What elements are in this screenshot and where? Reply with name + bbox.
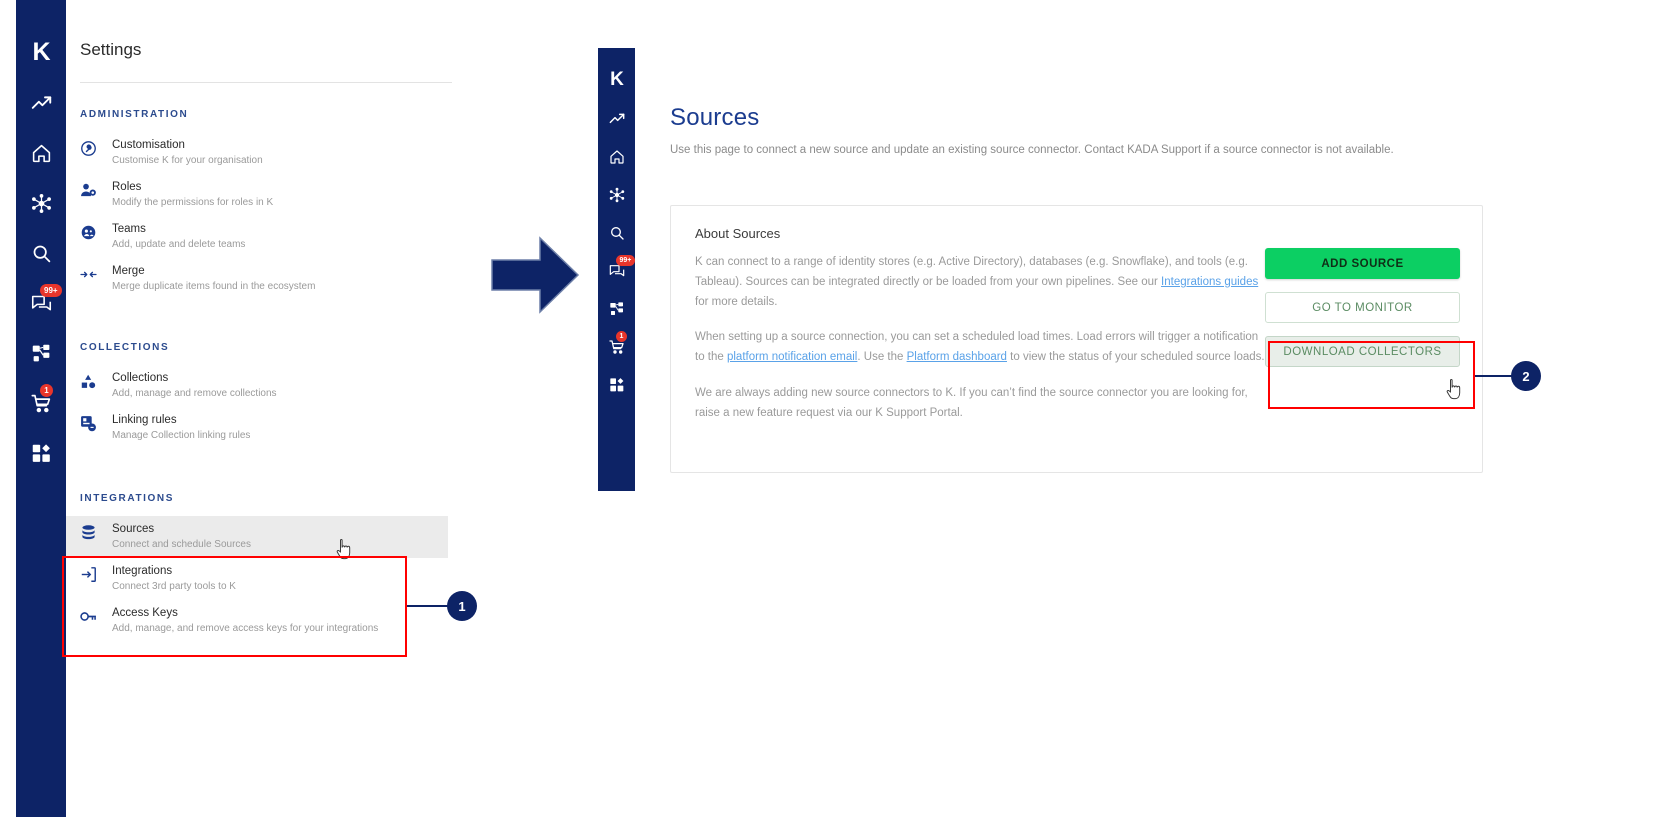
add-source-button[interactable]: ADD SOURCE [1265, 248, 1460, 279]
home-icon[interactable] [24, 134, 58, 172]
sidebar-item-label: Integrations [112, 564, 236, 580]
platform-dashboard-link[interactable]: Platform dashboard [907, 351, 1007, 363]
sidebar-item-desc: Customise K for your organisation [112, 154, 263, 169]
transition-arrow-icon [490, 236, 580, 319]
network-hub-icon[interactable] [604, 180, 630, 209]
cart-icon[interactable]: 1 [604, 332, 630, 361]
integrations-icon [80, 564, 112, 583]
network-hub-icon[interactable] [24, 184, 58, 222]
trending-up-icon[interactable] [24, 84, 58, 122]
sidebar-item-linking-rules[interactable]: Linking rules Manage Collection linking … [66, 407, 466, 449]
sidebar-item-label: Collections [112, 371, 277, 387]
about-sources-heading: About Sources [695, 226, 1265, 241]
nav-icon-list: 99+ 1 [24, 84, 58, 484]
sources-page: Sources Use this page to connect a new s… [650, 0, 1659, 817]
search-icon[interactable] [604, 218, 630, 247]
sidebar-item-integrations[interactable]: Integrations Connect 3rd party tools to … [66, 558, 466, 600]
search-icon[interactable] [24, 234, 58, 272]
about-paragraph-2: When setting up a source connection, you… [695, 328, 1265, 368]
nav-icon-list-secondary: 99+ 1 [604, 104, 630, 408]
paragraph-2-text-b: . Use the [857, 351, 906, 363]
annotation-line-2 [1475, 375, 1513, 377]
integrations-guides-link[interactable]: Integrations guides [1161, 276, 1258, 288]
sidebar-item-label: Access Keys [112, 606, 378, 622]
sidebar-item-customisation[interactable]: Customisation Customise K for your organ… [66, 132, 466, 174]
sidebar-item-desc: Connect 3rd party tools to K [112, 580, 236, 595]
sidebar-item-sources[interactable]: Sources Connect and schedule Sources [66, 516, 448, 558]
teams-icon [80, 222, 112, 241]
sidebar-item-merge[interactable]: Merge Merge duplicate items found in the… [66, 258, 466, 300]
sidebar-item-label: Merge [112, 264, 315, 280]
sidebar-item-desc: Modify the permissions for roles in K [112, 196, 273, 211]
platform-notification-email-link[interactable]: platform notification email [727, 351, 857, 363]
secondary-nav-rail: K 99+ 1 [598, 48, 635, 491]
download-collectors-button[interactable]: DOWNLOAD COLLECTORS [1265, 336, 1460, 367]
chat-icon[interactable]: 99+ [24, 284, 58, 322]
sitemap-icon[interactable] [604, 294, 630, 323]
card-actions: ADD SOURCE GO TO MONITOR DOWNLOAD COLLEC… [1265, 226, 1460, 452]
linking-rules-icon [80, 413, 112, 432]
mouse-cursor-download-collectors [1444, 378, 1464, 402]
cart-badge: 1 [40, 384, 53, 397]
sources-title: Sources [650, 0, 1659, 132]
trending-up-icon[interactable] [604, 104, 630, 133]
paragraph-2-text-c: to view the status of your scheduled sou… [1007, 351, 1265, 363]
roles-icon [80, 180, 112, 199]
sidebar-item-label: Customisation [112, 138, 263, 154]
sidebar-item-label: Teams [112, 222, 245, 238]
sidebar-item-desc: Add, manage and remove collections [112, 387, 277, 402]
home-icon[interactable] [604, 142, 630, 171]
sidebar-item-desc: Add, update and delete teams [112, 238, 245, 253]
about-sources-text: About Sources K can connect to a range o… [695, 226, 1265, 452]
cart-icon[interactable]: 1 [24, 384, 58, 422]
sidebar-item-roles[interactable]: Roles Modify the permissions for roles i… [66, 174, 466, 216]
chat-icon[interactable]: 99+ [604, 256, 630, 285]
sidebar-item-desc: Manage Collection linking rules [112, 429, 250, 444]
annotation-line-1 [407, 605, 451, 607]
wrench-icon [80, 138, 112, 157]
about-paragraph-1: K can connect to a range of identity sto… [695, 253, 1265, 312]
settings-panel: Settings ADMINISTRATION Customisation Cu… [66, 0, 466, 817]
app-logo-secondary[interactable]: K [610, 56, 623, 104]
merge-icon [80, 264, 112, 283]
annotation-badge-1: 1 [447, 591, 477, 621]
dashboard-icon[interactable] [24, 434, 58, 472]
sidebar-item-label: Sources [112, 522, 251, 538]
annotation-badge-2: 2 [1511, 361, 1541, 391]
section-heading-administration: ADMINISTRATION [66, 109, 466, 120]
sidebar-item-label: Roles [112, 180, 273, 196]
about-sources-card: About Sources K can connect to a range o… [670, 205, 1483, 473]
about-paragraph-3: We are always adding new source connecto… [695, 384, 1265, 424]
app-logo[interactable]: K [32, 20, 49, 84]
sidebar-item-desc: Connect and schedule Sources [112, 538, 251, 553]
sidebar-item-desc: Add, manage, and remove access keys for … [112, 622, 378, 637]
sidebar-item-teams[interactable]: Teams Add, update and delete teams [66, 216, 466, 258]
page-title: Settings [66, 0, 466, 60]
cart-badge: 1 [616, 331, 628, 342]
primary-nav-rail: K 99+ 1 [16, 0, 66, 817]
sidebar-item-access-keys[interactable]: Access Keys Add, manage, and remove acce… [66, 600, 466, 642]
key-icon [80, 606, 112, 625]
sources-subtitle: Use this page to connect a new source an… [650, 132, 1440, 160]
sidebar-item-label: Linking rules [112, 413, 250, 429]
dashboard-icon[interactable] [604, 370, 630, 399]
chat-badge: 99+ [616, 255, 636, 266]
shapes-icon [80, 371, 112, 390]
paragraph-1-text-b: for more details. [695, 296, 777, 308]
chat-badge: 99+ [40, 284, 62, 297]
section-heading-collections: COLLECTIONS [66, 342, 466, 353]
go-to-monitor-button[interactable]: GO TO MONITOR [1265, 292, 1460, 323]
database-icon [80, 522, 112, 541]
section-heading-integrations: INTEGRATIONS [66, 493, 466, 504]
sidebar-item-collections[interactable]: Collections Add, manage and remove colle… [66, 365, 466, 407]
sitemap-icon[interactable] [24, 334, 58, 372]
sidebar-item-desc: Merge duplicate items found in the ecosy… [112, 280, 315, 295]
